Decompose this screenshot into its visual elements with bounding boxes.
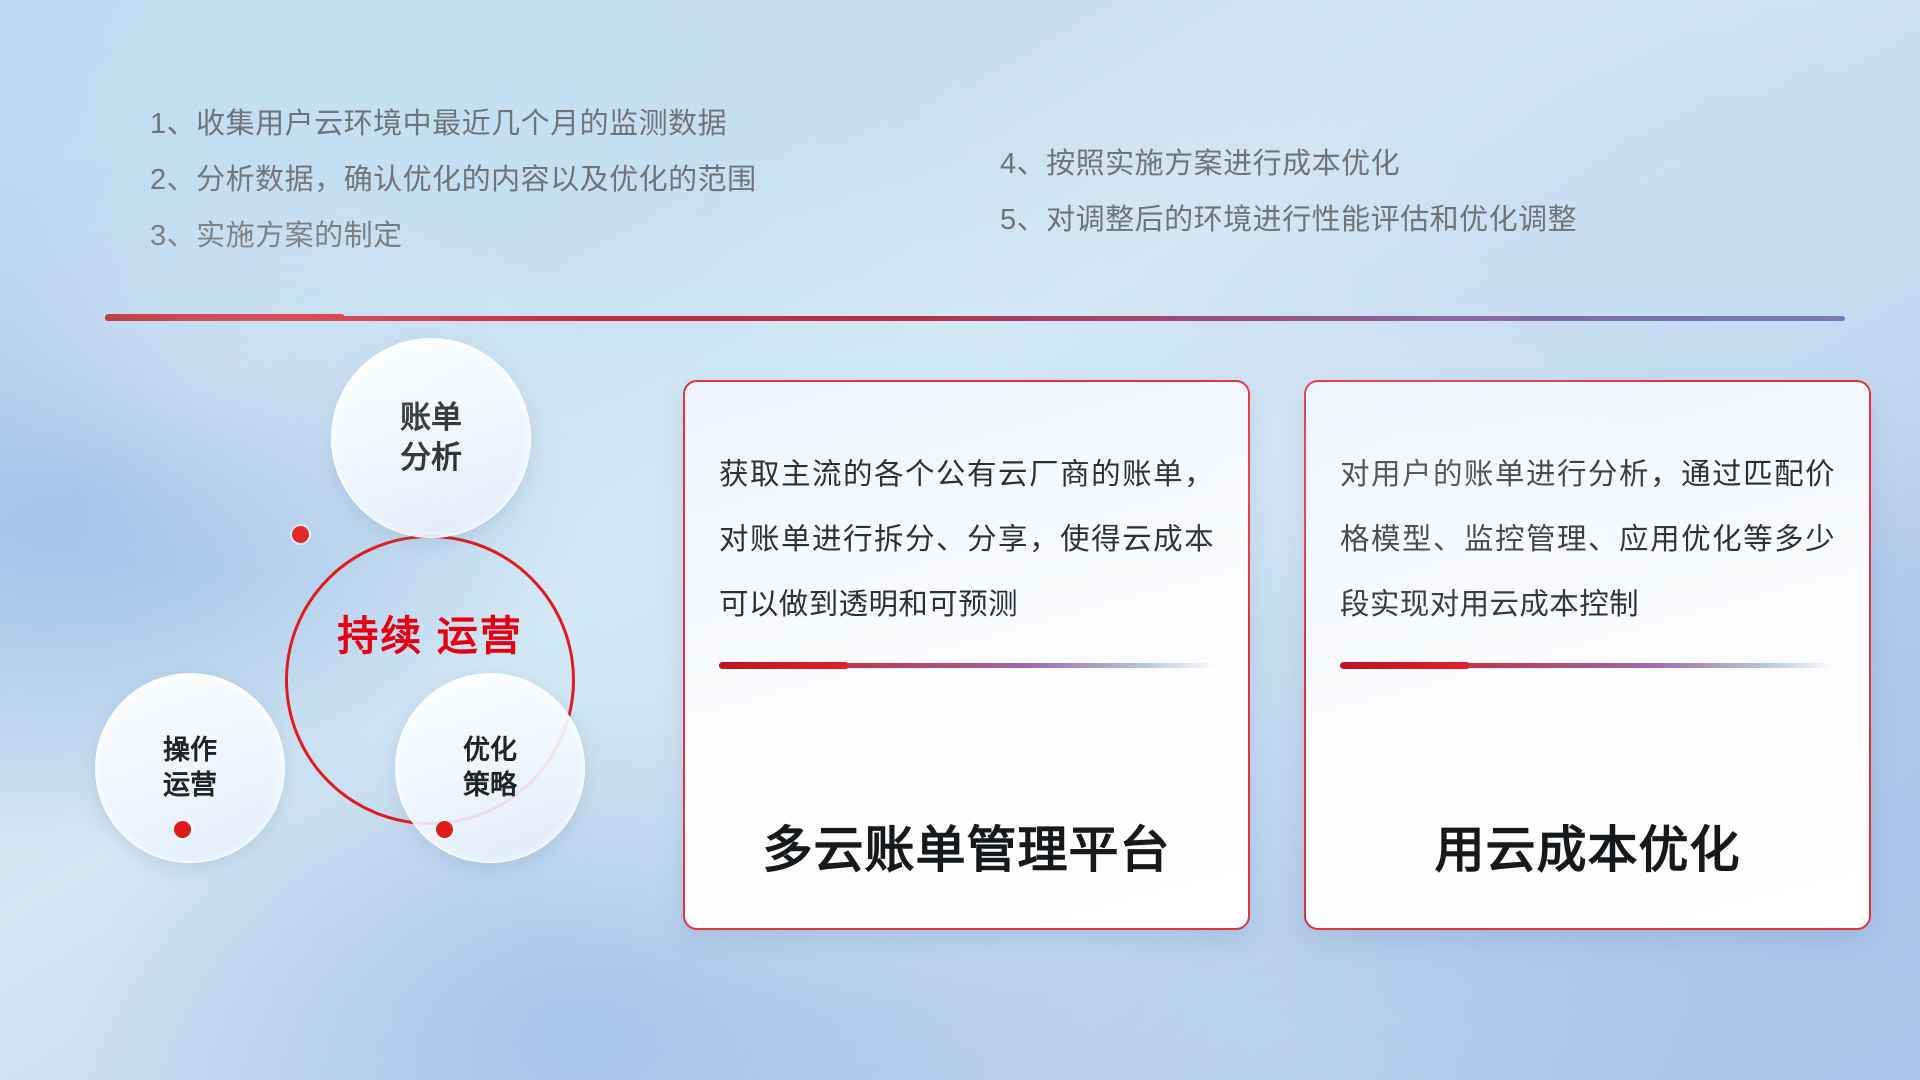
step-item-3: 3、实施方案的制定 bbox=[150, 208, 757, 264]
steps-column-left: 1、收集用户云环境中最近几个月的监测数据 2、分析数据，确认优化的内容以及优化的… bbox=[150, 96, 757, 264]
steps-column-right: 4、按照实施方案进行成本优化 5、对调整后的环境进行性能评估和优化调整 bbox=[1000, 136, 1577, 248]
bubble-top-line-1: 账单 bbox=[400, 398, 462, 438]
diagram-bubble-operations[interactable]: 操作 运营 bbox=[95, 673, 285, 863]
bubble-right-line-1: 优化 bbox=[463, 733, 517, 768]
center-label-line-1: 持续 bbox=[337, 613, 423, 659]
center-label-line-2: 运营 bbox=[437, 613, 523, 659]
card-divider bbox=[1340, 663, 1835, 668]
bubble-left-line-2: 运营 bbox=[163, 768, 217, 803]
card-title: 多云账单管理平台 bbox=[719, 810, 1214, 928]
step-item-2: 2、分析数据，确认优化的内容以及优化的范围 bbox=[150, 152, 757, 208]
node-dot-top-icon bbox=[292, 526, 309, 543]
step-item-1: 1、收集用户云环境中最近几个月的监测数据 bbox=[150, 96, 757, 152]
bubble-right-line-2: 策略 bbox=[463, 768, 517, 803]
steps-list: 1、收集用户云环境中最近几个月的监测数据 2、分析数据，确认优化的内容以及优化的… bbox=[0, 0, 1920, 300]
card-title: 用云成本优化 bbox=[1340, 810, 1835, 928]
diagram-bubble-bill-analysis[interactable]: 账单 分析 bbox=[331, 338, 531, 538]
step-item-5: 5、对调整后的环境进行性能评估和优化调整 bbox=[1000, 192, 1577, 248]
diagram-bubble-optimization-strategy[interactable]: 优化 策略 bbox=[395, 673, 585, 863]
slide-background: 1、收集用户云环境中最近几个月的监测数据 2、分析数据，确认优化的内容以及优化的… bbox=[0, 0, 1920, 1080]
card-body-text: 获取主流的各个公有云厂商的账单，对账单进行拆分、分享，使得云成本可以做到透明和可… bbox=[719, 442, 1214, 637]
feature-cards: 获取主流的各个公有云厂商的账单，对账单进行拆分、分享，使得云成本可以做到透明和可… bbox=[683, 380, 1871, 930]
bubble-top-line-2: 分析 bbox=[400, 438, 462, 478]
card-body-text: 对用户的账单进行分析，通过匹配价格模型、监控管理、应用优化等多少段实现对用云成本… bbox=[1340, 442, 1835, 637]
node-dot-right-icon bbox=[436, 821, 453, 838]
card-cloud-cost-optimization[interactable]: 对用户的账单进行分析，通过匹配价格模型、监控管理、应用优化等多少段实现对用云成本… bbox=[1304, 380, 1871, 930]
section-divider-rule bbox=[105, 316, 1845, 321]
card-multicloud-billing-platform[interactable]: 获取主流的各个公有云厂商的账单，对账单进行拆分、分享，使得云成本可以做到透明和可… bbox=[683, 380, 1250, 930]
step-item-4: 4、按照实施方案进行成本优化 bbox=[1000, 136, 1577, 192]
node-dot-left-icon bbox=[174, 821, 191, 838]
diagram-center-label: 持续 运营 bbox=[285, 610, 575, 662]
card-divider bbox=[719, 663, 1214, 668]
circle-diagram: 持续 运营 账单 分析 操作 运营 优化 策略 bbox=[95, 355, 615, 945]
bubble-left-line-1: 操作 bbox=[163, 733, 217, 768]
